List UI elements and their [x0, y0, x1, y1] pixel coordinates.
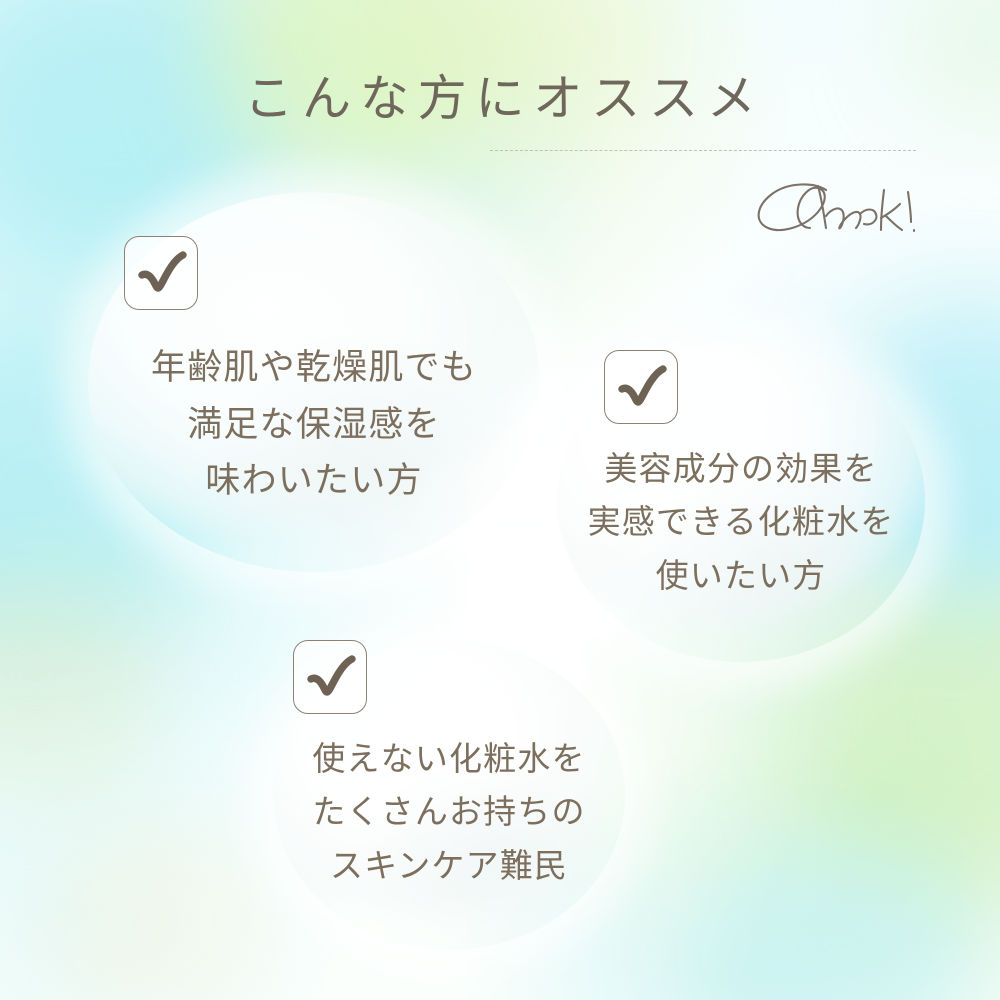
card-line: 使えない化粧水を	[253, 734, 645, 787]
card-text: 年齢肌や乾燥肌でも 満足な保湿感を 味わいたい方	[88, 340, 540, 510]
header: こんな方にオススメ	[0, 72, 1000, 126]
page-title: こんな方にオススメ	[0, 72, 1000, 126]
card-text: 美容成分の効果を 実感できる化粧水を 使いたい方	[539, 444, 943, 604]
checkbox-checked-icon[interactable]	[293, 640, 367, 714]
card-line: たくさんお持ちの	[253, 787, 645, 840]
card-line: 美容成分の効果を	[539, 444, 943, 497]
card-line: 年齢肌や乾燥肌でも	[88, 340, 540, 397]
benefit-card: 年齢肌や乾燥肌でも 満足な保湿感を 味わいたい方	[88, 192, 540, 572]
promo-banner: こんな方にオススメ 年齢肌や乾燥肌でも	[0, 0, 1000, 1000]
checkbox-checked-icon[interactable]	[124, 236, 198, 310]
card-line: 使いたい方	[539, 551, 943, 604]
card-line: スキンケア難民	[253, 841, 645, 894]
title-divider	[490, 150, 916, 151]
card-line: 実感できる化粧水を	[539, 497, 943, 550]
benefit-card: 使えない化粧水を たくさんお持ちの スキンケア難民	[273, 640, 625, 950]
check-script-label	[748, 178, 948, 248]
card-line: 満足な保湿感を	[88, 397, 540, 454]
benefit-card: 美容成分の効果を 実感できる化粧水を 使いたい方	[557, 340, 925, 662]
checkbox-checked-icon[interactable]	[604, 350, 678, 424]
card-line: 味わいたい方	[88, 453, 540, 510]
card-text: 使えない化粧水を たくさんお持ちの スキンケア難民	[253, 734, 645, 894]
